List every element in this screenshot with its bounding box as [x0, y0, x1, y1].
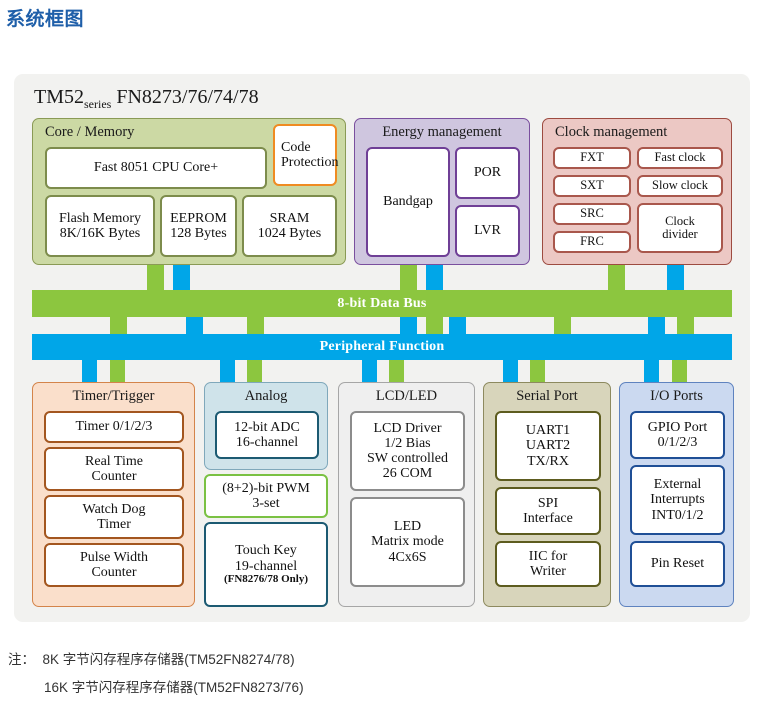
- cell-bandgap: Bandgap: [366, 147, 450, 257]
- block-title-io-ports: I/O Ports: [620, 388, 733, 405]
- cell-fast-clock: Fast clock: [637, 147, 723, 169]
- block-serial-port: Serial Port UART1 UART2 TX/RX SPI Interf…: [483, 382, 611, 607]
- block-title-serial-port: Serial Port: [484, 388, 610, 405]
- cell-clock-divider: Clock divider: [637, 203, 723, 253]
- cell-pin-reset: Pin Reset: [630, 541, 725, 587]
- stub-mid-blue-2: [400, 317, 417, 334]
- cell-fxt: FXT: [553, 147, 631, 169]
- cell-por: POR: [455, 147, 520, 199]
- cell-adc: 12-bit ADC 16-channel: [215, 411, 319, 459]
- cell-pulse-width-counter: Pulse Width Counter: [44, 543, 184, 587]
- cell-sram: SRAM 1024 Bytes: [242, 195, 337, 257]
- stub-mid-green-1: [110, 317, 127, 334]
- stub-mid-green-3: [426, 317, 443, 334]
- block-core-memory: Core / Memory Fast 8051 CPU Core+ Code P…: [32, 118, 346, 265]
- cell-watch-dog-timer: Watch Dog Timer: [44, 495, 184, 539]
- block-clock-management: Clock management FXT SXT SRC FRC Fast cl…: [542, 118, 732, 265]
- cell-flash-memory: Flash Memory 8K/16K Bytes: [45, 195, 155, 257]
- cell-slow-clock: Slow clock: [637, 175, 723, 197]
- cell-frc: FRC: [553, 231, 631, 253]
- stub-mid-green-2: [247, 317, 264, 334]
- block-title-lcd-led: LCD/LED: [339, 388, 474, 405]
- bus-data: 8-bit Data Bus: [32, 290, 732, 317]
- chip-family: TM52: [34, 86, 84, 108]
- block-timer-trigger: Timer/Trigger Timer 0/1/2/3 Real Time Co…: [32, 382, 195, 607]
- block-title-energy-management: Energy management: [355, 124, 529, 141]
- cell-uart: UART1 UART2 TX/RX: [495, 411, 601, 481]
- cell-timer-0123: Timer 0/1/2/3: [44, 411, 184, 443]
- cell-cpu-core: Fast 8051 CPU Core+: [45, 147, 267, 189]
- stub-core-green: [147, 265, 164, 290]
- block-title-clock-management: Clock management: [543, 124, 731, 141]
- block-io-ports: I/O Ports GPIO Port 0/1/2/3 External Int…: [619, 382, 734, 607]
- page-title: 系统框图: [6, 4, 84, 31]
- chip-parts: FN8273/76/74/78: [116, 86, 258, 108]
- block-analog: Analog 12-bit ADC 16-channel: [204, 382, 328, 470]
- block-energy-management: Energy management Bandgap POR LVR: [354, 118, 530, 265]
- stub-core-blue: [173, 265, 190, 290]
- stub-mid-green-4: [554, 317, 571, 334]
- cell-led-matrix: LED Matrix mode 4Cx6S: [350, 497, 465, 587]
- cell-touch-key-label: Touch Key 19-channel: [235, 543, 297, 573]
- block-title-timer-trigger: Timer/Trigger: [33, 388, 194, 405]
- note-line-2: 16K 字节闪存程序存储器(TM52FN8273/76): [44, 676, 304, 696]
- cell-gpio-port: GPIO Port 0/1/2/3: [630, 411, 725, 459]
- page-root: 系统框图 TM52series FN8273/76/74/78 Core / M…: [0, 0, 764, 706]
- cell-code-protection: Code Protection: [273, 124, 337, 186]
- chip-title: TM52series FN8273/76/74/78: [34, 86, 259, 112]
- chip-family-subscript: series: [84, 97, 111, 111]
- cell-src: SRC: [553, 203, 631, 225]
- cell-lcd-driver: LCD Driver 1/2 Bias SW controlled 26 COM: [350, 411, 465, 491]
- cell-eeprom: EEPROM 128 Bytes: [160, 195, 237, 257]
- cell-lvr: LVR: [455, 205, 520, 257]
- stub-mid-blue-1: [186, 317, 203, 334]
- stub-mid-green-5: [677, 317, 694, 334]
- block-title-analog: Analog: [205, 388, 327, 405]
- stub-mid-blue-4: [648, 317, 665, 334]
- stub-energy-blue: [426, 265, 443, 290]
- cell-iic: IIC for Writer: [495, 541, 601, 587]
- block-lcd-led: LCD/LED LCD Driver 1/2 Bias SW controlle…: [338, 382, 475, 607]
- cell-real-time-counter: Real Time Counter: [44, 447, 184, 491]
- cell-touch-key: Touch Key 19-channel (FN8276/78 Only): [204, 522, 328, 607]
- cell-touch-key-note: (FN8276/78 Only): [224, 574, 308, 586]
- stub-energy-green: [400, 265, 417, 290]
- stub-clock-blue: [667, 265, 684, 290]
- cell-spi: SPI Interface: [495, 487, 601, 535]
- cell-sxt: SXT: [553, 175, 631, 197]
- stub-mid-blue-3: [449, 317, 466, 334]
- note-line-1: 注： 8K 字节闪存程序存储器(TM52FN8274/78): [8, 648, 295, 668]
- system-block-diagram: TM52series FN8273/76/74/78 Core / Memory…: [14, 74, 750, 622]
- cell-pwm: (8+2)-bit PWM 3-set: [204, 474, 328, 518]
- stub-clock-green: [608, 265, 625, 290]
- bus-peripheral-function: Peripheral Function: [32, 334, 732, 360]
- cell-external-interrupts: External Interrupts INT0/1/2: [630, 465, 725, 535]
